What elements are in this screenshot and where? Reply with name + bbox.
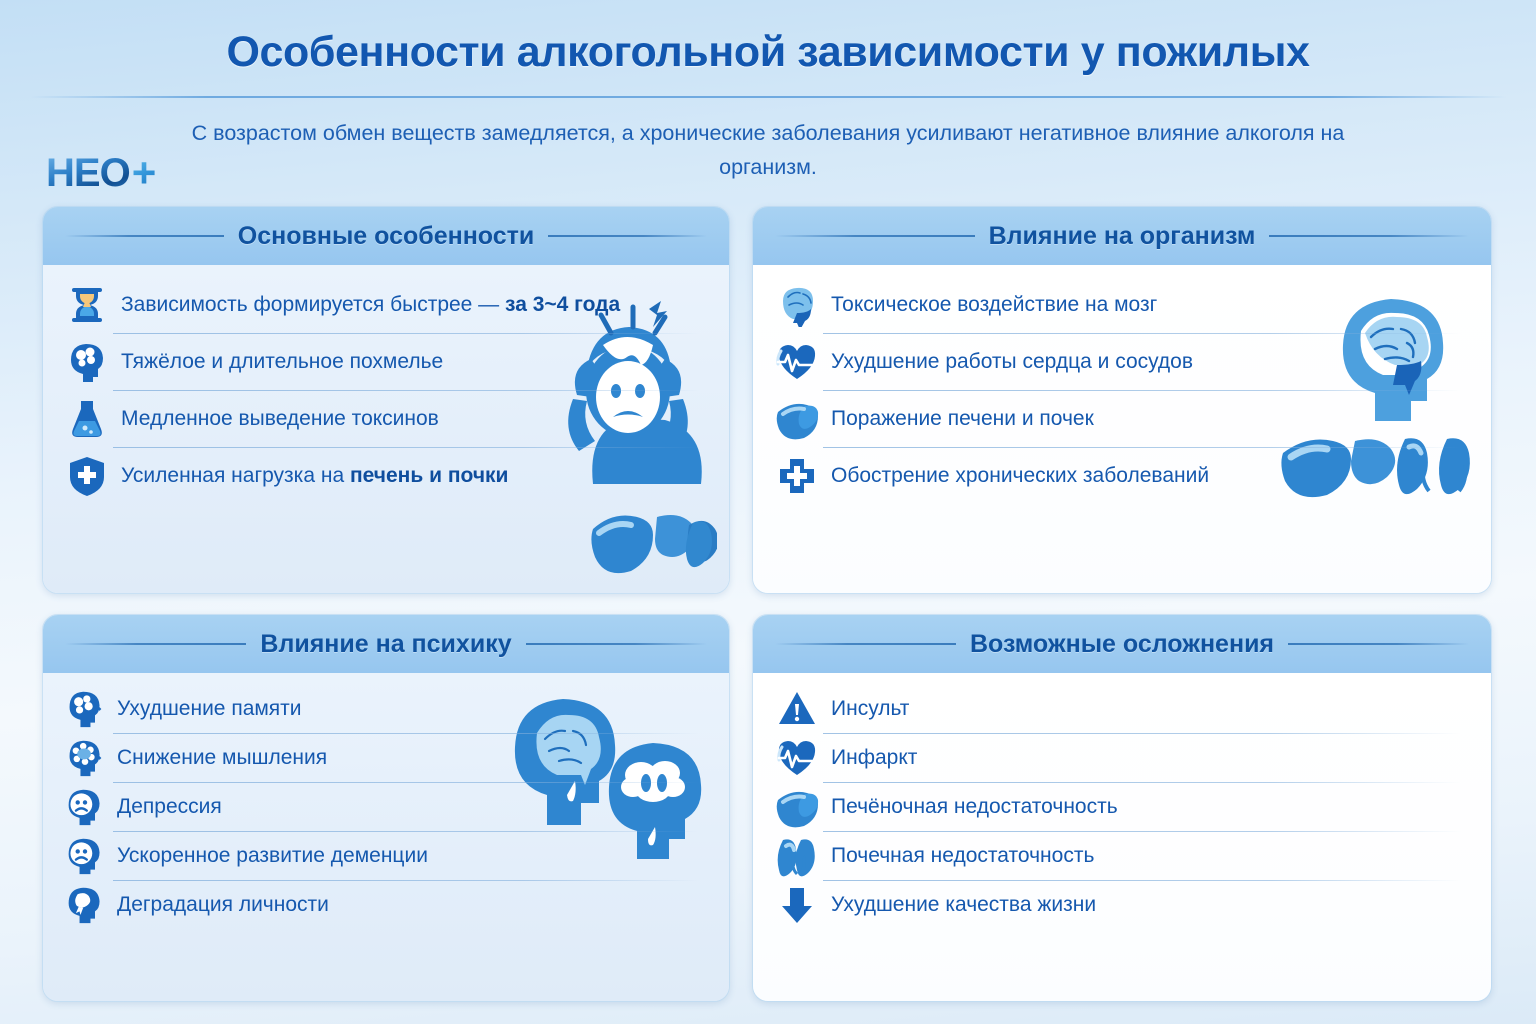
heart-pulse-icon	[775, 340, 819, 384]
hourglass-icon	[65, 283, 109, 327]
header-rule-right	[548, 235, 707, 237]
head-memory-icon	[65, 689, 105, 729]
card-title: Влияние на психику	[260, 630, 511, 659]
head-hangover-icon	[65, 340, 109, 384]
list-item[interactable]: Зависимость формируется быстрее — за 3~4…	[65, 277, 707, 333]
list-item-label: Ухудшение памяти	[117, 697, 302, 721]
complications-list: Инсульт Инфаркт Печёночная недостаточн	[775, 685, 1469, 929]
list-item[interactable]: Снижение мышления	[65, 734, 707, 782]
card-complications: Возможные осложнения Инсульт Инфаркт	[752, 614, 1492, 1002]
heart-pulse-icon	[775, 736, 819, 780]
header-rule-right	[526, 643, 707, 645]
list-item[interactable]: Инфаркт	[775, 734, 1469, 782]
header-rule-left	[65, 643, 246, 645]
list-item[interactable]: Медленное выведение токсинов	[65, 391, 707, 447]
header-rule-left	[775, 235, 975, 237]
list-item-label: Поражение печени и почек	[831, 407, 1094, 431]
card-body: Инсульт Инфаркт Печёночная недостаточн	[753, 673, 1491, 1001]
list-item[interactable]: Обострение хронических заболеваний	[775, 448, 1469, 504]
liver-icon	[775, 397, 819, 441]
card-psyche-impact: Влияние на психику	[42, 614, 730, 1002]
flask-icon	[65, 397, 109, 441]
head-degradation-icon	[65, 885, 105, 925]
warning-triangle-icon	[775, 687, 819, 731]
title-divider	[30, 96, 1506, 98]
list-item-label: Депрессия	[117, 795, 222, 819]
list-item[interactable]: Ухудшение работы сердца и сосудов	[775, 334, 1469, 390]
head-sad-icon	[65, 787, 105, 827]
page-subtitle: С возрастом обмен веществ замедляется, а…	[188, 116, 1348, 184]
psyche-list: Ухудшение памяти Снижение мышления	[65, 685, 707, 929]
list-item-label: Медленное выведение токсинов	[121, 407, 439, 431]
card-header: Основные особенности	[43, 207, 729, 265]
list-item[interactable]: Усиленная нагрузка на печень и почки	[65, 448, 707, 504]
list-item-label: Инфаркт	[831, 746, 917, 770]
logo-wordmark: НЕО	[46, 153, 130, 193]
shield-cross-icon	[65, 454, 109, 498]
card-title: Влияние на организм	[989, 222, 1256, 251]
list-item-label: Ускоренное развитие деменции	[117, 844, 428, 868]
medical-cross-icon	[775, 454, 819, 498]
impact-list: Токсическое воздействие на мозг Ухудшени…	[775, 277, 1469, 504]
list-item[interactable]: Тяжёлое и длительное похмелье	[65, 334, 707, 390]
list-item-label: Тяжёлое и длительное похмелье	[121, 350, 443, 374]
feature-list: Зависимость формируется быстрее — за 3~4…	[65, 277, 707, 504]
brain-icon	[775, 283, 819, 327]
list-item[interactable]: Инсульт	[775, 685, 1469, 733]
list-item-label: Почечная недостаточность	[831, 844, 1094, 868]
list-item-label: Усиленная нагрузка на печень и почки	[121, 464, 508, 488]
list-item-label: Обострение хронических заболеваний	[831, 464, 1209, 488]
card-header: Влияние на психику	[43, 615, 729, 673]
list-item[interactable]: Ухудшение памяти	[65, 685, 707, 733]
header-rule-left	[65, 235, 224, 237]
list-item[interactable]: Печёночная недостаточность	[775, 783, 1469, 831]
card-body-impact: Влияние на организм	[752, 206, 1492, 594]
card-header: Влияние на организм	[753, 207, 1491, 265]
list-item[interactable]: Поражение печени и почек	[775, 391, 1469, 447]
list-item[interactable]: Токсическое воздействие на мозг	[775, 277, 1469, 333]
card-body: Токсическое воздействие на мозг Ухудшени…	[753, 265, 1491, 593]
page-title: Особенности алкогольной зависимости у по…	[0, 28, 1536, 77]
card-title: Возможные осложнения	[970, 630, 1274, 659]
card-header: Возможные осложнения	[753, 615, 1491, 673]
list-item-label: Деградация личности	[117, 893, 329, 917]
kidneys-icon	[775, 834, 819, 878]
list-item-label: Ухудшение качества жизни	[831, 893, 1096, 917]
card-body: Зависимость формируется быстрее — за 3~4…	[43, 265, 729, 593]
header-rule-right	[1288, 643, 1469, 645]
list-item[interactable]: Деградация личности	[65, 881, 707, 929]
brand-logo[interactable]: НЕО +	[46, 150, 156, 196]
head-thinking-icon	[65, 738, 105, 778]
card-title: Основные особенности	[238, 222, 535, 251]
liver-kidney-illustration	[589, 505, 717, 581]
list-item[interactable]: Ускоренное развитие деменции	[65, 832, 707, 880]
liver-icon	[775, 785, 819, 829]
list-item-label: Зависимость формируется быстрее — за 3~4…	[121, 293, 620, 317]
list-item[interactable]: Почечная недостаточность	[775, 832, 1469, 880]
header-rule-left	[775, 643, 956, 645]
list-item[interactable]: Депрессия	[65, 783, 707, 831]
card-body: Ухудшение памяти Снижение мышления	[43, 673, 729, 1001]
head-dementia-icon	[65, 836, 105, 876]
list-item-label: Печёночная недостаточность	[831, 795, 1118, 819]
card-main-features: Основные особенности	[42, 206, 730, 594]
header-rule-right	[1269, 235, 1469, 237]
list-item-label: Снижение мышления	[117, 746, 327, 770]
logo-plus-icon: +	[132, 152, 157, 194]
list-item-label: Инсульт	[831, 697, 909, 721]
list-item[interactable]: Ухудшение качества жизни	[775, 881, 1469, 929]
list-item-label: Токсическое воздействие на мозг	[831, 293, 1157, 317]
down-arrow-icon	[775, 883, 819, 927]
page-header: Особенности алкогольной зависимости у по…	[0, 0, 1536, 200]
list-item-label: Ухудшение работы сердца и сосудов	[831, 350, 1193, 374]
